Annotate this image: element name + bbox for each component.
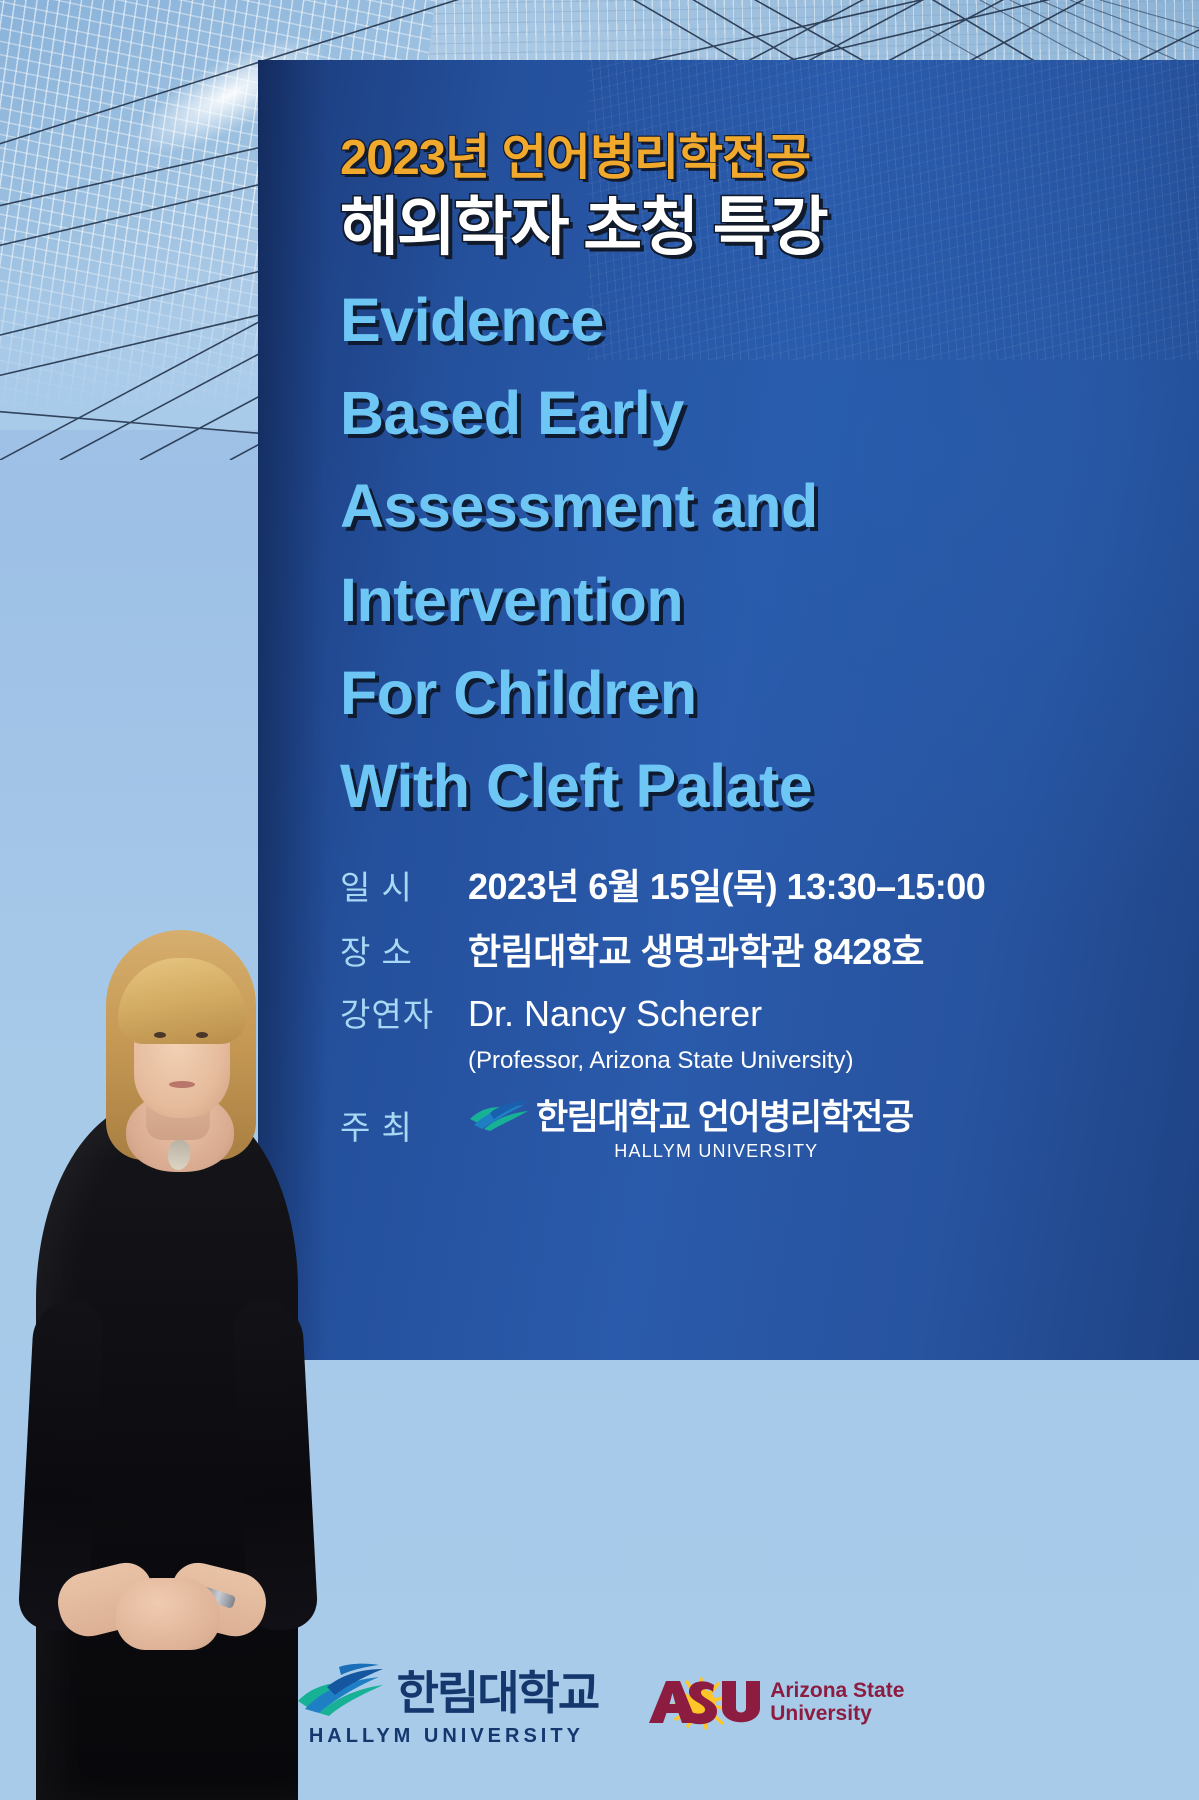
- speaker-left-eye: [154, 1032, 166, 1038]
- asu-wordmark-line-1: Arizona State: [770, 1680, 904, 1702]
- host-name-ko: 한림대학교 언어병리학전공: [536, 1089, 913, 1140]
- detail-row-speaker: 강연자 Dr. Nancy Scherer: [340, 988, 1170, 1036]
- host-brand-lockup: 한림대학교 언어병리학전공 HALLYM UNIVERSITY: [468, 1089, 913, 1162]
- speaker-affiliation: (Professor, Arizona State University): [468, 1047, 1170, 1075]
- poster-root: 2023년 언어병리학전공 해외학자 초청 특강 Evidence Based …: [0, 0, 1199, 1800]
- detail-label-host: 주 최: [340, 1101, 468, 1149]
- host-brand-line: 한림대학교 언어병리학전공: [468, 1089, 913, 1140]
- hallym-wave-logo-icon: [295, 1661, 387, 1719]
- poster-kicker: 2023년 언어병리학전공: [340, 132, 1170, 186]
- hallym-logo-line: 한림대학교: [295, 1657, 599, 1723]
- english-title-line-6: With Cleft Palate: [340, 740, 1170, 833]
- footer-logos: 한림대학교 HALLYM UNIVERSITY: [0, 1657, 1199, 1748]
- asu-logo: Arizona State University: [644, 1675, 904, 1731]
- speaker-mouth: [169, 1081, 195, 1088]
- english-lecture-title: Evidence Based Early Assessment and Inte…: [340, 274, 1170, 834]
- english-title-line-2: Based Early: [340, 367, 1170, 460]
- speaker-hands: [116, 1578, 220, 1650]
- detail-label-venue: 장 소: [340, 926, 468, 974]
- detail-label-speaker: 강연자: [340, 988, 468, 1036]
- event-details: 일 시 2023년 6월 15일(목) 13:30–15:00 장 소 한림대학…: [340, 858, 1170, 1162]
- host-name-en: HALLYM UNIVERSITY: [520, 1141, 913, 1162]
- asu-wordmark-line-2: University: [770, 1703, 904, 1725]
- english-title-line-3: Assessment and: [340, 460, 1170, 553]
- speaker-right-eye: [196, 1032, 208, 1038]
- poster-content: 2023년 언어병리학전공 해외학자 초청 특강 Evidence Based …: [340, 132, 1170, 1175]
- hallym-logo-name-ko: 한림대학교: [397, 1657, 599, 1723]
- hallym-wave-icon: [468, 1095, 530, 1133]
- detail-value-datetime: 2023년 6월 15일(목) 13:30–15:00: [468, 858, 985, 910]
- detail-value-speaker: Dr. Nancy Scherer: [468, 993, 762, 1035]
- hallym-logo-name-en: HALLYM UNIVERSITY: [309, 1725, 584, 1748]
- detail-row-datetime: 일 시 2023년 6월 15일(목) 13:30–15:00: [340, 858, 1170, 910]
- hallym-university-logo: 한림대학교 HALLYM UNIVERSITY: [295, 1657, 599, 1748]
- poster-headline: 해외학자 초청 특강: [340, 192, 1170, 264]
- detail-label-datetime: 일 시: [340, 861, 468, 909]
- detail-row-venue: 장 소 한림대학교 생명과학관 8428호: [340, 923, 1170, 975]
- english-title-line-1: Evidence: [340, 274, 1170, 367]
- detail-value-venue: 한림대학교 생명과학관 8428호: [468, 923, 924, 975]
- english-title-line-5: For Children: [340, 647, 1170, 740]
- english-title-line-4: Intervention: [340, 554, 1170, 647]
- detail-row-host: 주 최 한림대학교 언어병리학전공 HALLYM UNIVERSITY: [340, 1089, 1170, 1162]
- asu-wordmark: Arizona State University: [770, 1680, 904, 1725]
- asu-mark-icon: [644, 1675, 760, 1731]
